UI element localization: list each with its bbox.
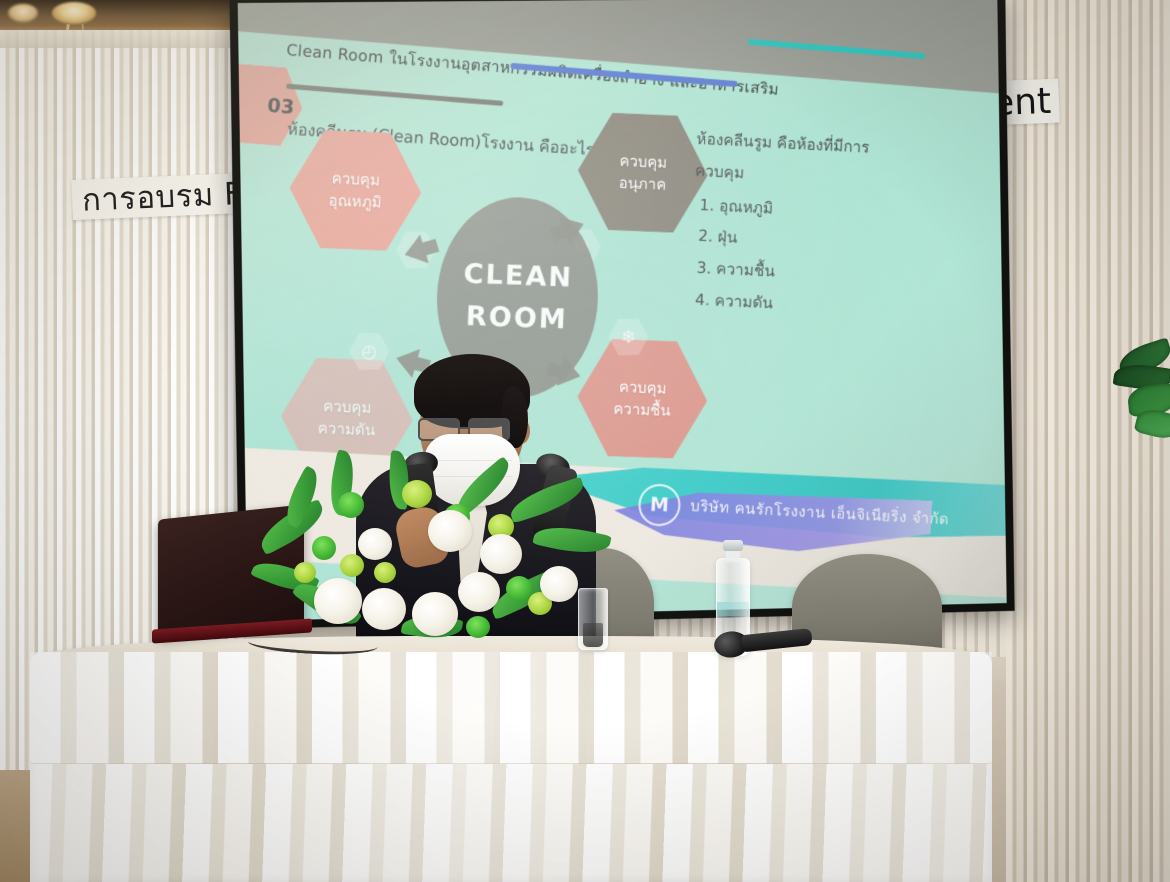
bouquet-flower xyxy=(458,572,500,612)
hexagon-temperature-line1: ควบคุม xyxy=(331,167,380,192)
bouquet-flower xyxy=(540,566,578,602)
bouquet-leaf xyxy=(532,520,611,559)
bouquet-flower xyxy=(374,562,396,583)
drinking-glass xyxy=(578,588,608,650)
hexagon-temperature-line2: อุณหภูมิ xyxy=(328,189,382,214)
curtain-hem xyxy=(0,30,246,48)
definition-list: อุณหภูมิ ฝุ่น ความชื้น ความดัน xyxy=(688,189,867,324)
glass-contents xyxy=(583,623,603,647)
snowflake-icon-glyph: ❄ xyxy=(621,326,636,347)
seminar-photo: การอบรม Fa ent 03 Clean Room ในโรงงานอุต… xyxy=(0,0,1170,882)
bouquet-flower xyxy=(466,616,490,638)
bouquet-flower xyxy=(312,536,336,560)
bottle-label xyxy=(717,602,749,616)
hexagon-pressure-line2: ความดัน xyxy=(317,417,375,442)
clean-room-center-line1: CLEAN xyxy=(463,254,574,300)
bottle-cap xyxy=(723,540,743,551)
bouquet-flower xyxy=(314,578,362,624)
bouquet-flower xyxy=(338,492,364,518)
bouquet-flower xyxy=(506,576,532,601)
bouquet-flower xyxy=(340,554,364,577)
ceiling-light-secondary xyxy=(8,4,38,22)
hexagon-pressure-line1: ควบคุม xyxy=(323,395,372,419)
ceiling-light xyxy=(52,2,96,24)
hexagon-humidity-line2: ความชื้น xyxy=(613,398,671,422)
microphone-body xyxy=(741,628,812,652)
potted-plant xyxy=(1112,345,1170,465)
eyeglass-bridge xyxy=(460,427,470,429)
bouquet-flower xyxy=(428,510,472,552)
bouquet-leaf xyxy=(506,477,588,524)
hexagon-humidity-line1: ควบคุม xyxy=(619,375,668,399)
slide-page-number: 03 xyxy=(266,94,295,118)
bouquet-flower xyxy=(294,562,316,583)
bouquet-flower xyxy=(412,592,458,636)
bouquet-flower xyxy=(402,480,432,508)
bouquet-flower xyxy=(362,588,406,630)
company-logo-glyph: M xyxy=(649,494,669,517)
clean-room-center-line2: ROOM xyxy=(465,296,569,342)
slide-definition-block: ห้องคลีนรูม คือห้องที่มีการ ควบคุม อุณหภ… xyxy=(688,124,870,324)
bouquet-flower xyxy=(480,534,522,574)
hexagon-particle-line2: อนุภาค xyxy=(618,172,666,196)
flower-bouquet xyxy=(252,470,612,670)
hexagon-particle-line1: ควบคุม xyxy=(619,149,668,173)
bouquet-flower xyxy=(358,528,392,560)
